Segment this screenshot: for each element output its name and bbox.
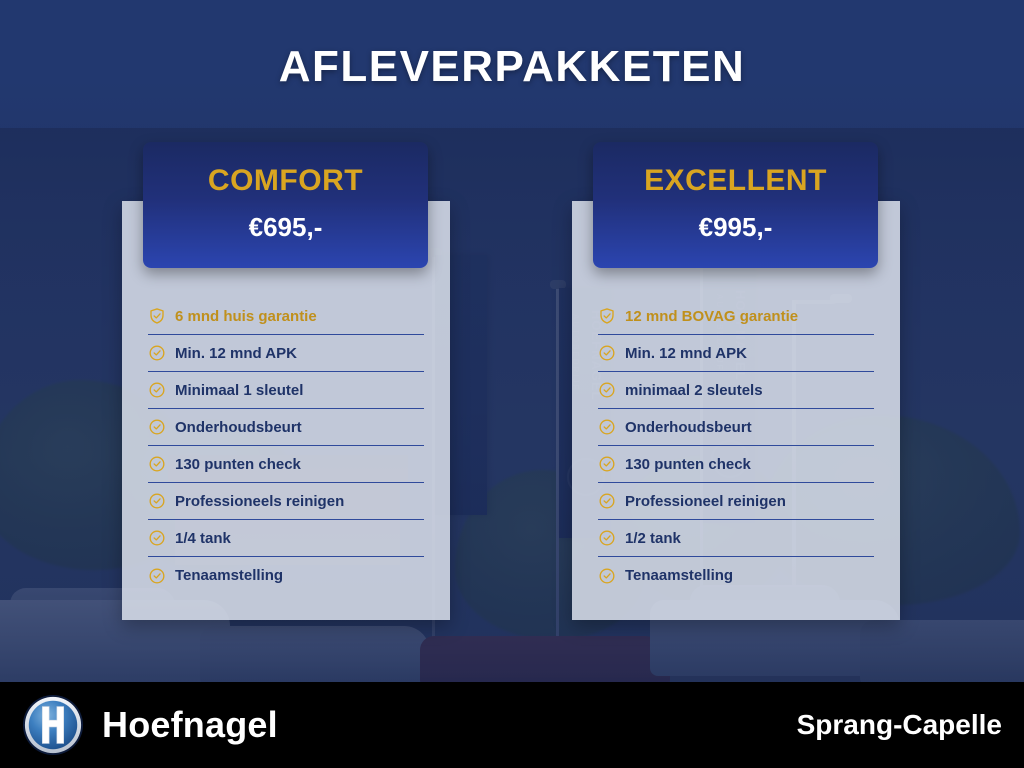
package-feature-item: minimaal 2 sleutels [598, 372, 874, 409]
package-feature-label: 1/4 tank [175, 530, 231, 547]
shield-check-icon [598, 307, 616, 325]
circle-check-icon [148, 418, 166, 436]
package-feature-label: Professioneel reinigen [625, 493, 786, 510]
package-feature-label: 130 punten check [175, 456, 301, 473]
package-name: EXCELLENT [593, 164, 878, 198]
slide-root: HOEFNAGEL AUTOBEDRIJF HOEFNAGEL AUTOBEDR… [0, 0, 1024, 768]
package-card-excellent: EXCELLENT €995,- 12 mnd BOVAG garantieMi… [572, 201, 900, 620]
circle-check-icon [598, 344, 616, 362]
package-feature-item: Min. 12 mnd APK [148, 335, 424, 372]
footer-brand: Hoefnagel [22, 694, 278, 756]
package-feature-item: Professioneel reinigen [598, 483, 874, 520]
package-feature-label: 130 punten check [625, 456, 751, 473]
package-feature-label: Professioneels reinigen [175, 493, 344, 510]
package-name: COMFORT [143, 164, 428, 198]
footer-bar: Hoefnagel Sprang-Capelle [0, 682, 1024, 768]
package-feature-label: Tenaamstelling [625, 567, 733, 584]
hoefnagel-h-badge-logo [22, 694, 84, 756]
page-title: AFLEVERPAKKETEN [0, 42, 1024, 92]
package-feature-list: 6 mnd huis garantieMin. 12 mnd APKMinima… [148, 298, 424, 594]
shield-check-icon [148, 307, 166, 325]
circle-check-icon [598, 492, 616, 510]
package-feature-label: 1/2 tank [625, 530, 681, 547]
package-feature-item: Tenaamstelling [598, 557, 874, 594]
package-feature-label: 12 mnd BOVAG garantie [625, 308, 798, 325]
package-feature-item: Minimaal 1 sleutel [148, 372, 424, 409]
package-feature-item: Onderhoudsbeurt [598, 409, 874, 446]
circle-check-icon [148, 455, 166, 473]
package-price: €695,- [143, 212, 428, 243]
circle-check-icon [598, 455, 616, 473]
package-feature-label: Min. 12 mnd APK [625, 345, 747, 362]
package-feature-label: Min. 12 mnd APK [175, 345, 297, 362]
package-feature-item: 12 mnd BOVAG garantie [598, 298, 874, 335]
package-card-comfort: COMFORT €695,- 6 mnd huis garantieMin. 1… [122, 201, 450, 620]
footer-location: Sprang-Capelle [797, 709, 1002, 741]
circle-check-icon [598, 418, 616, 436]
footer-brand-name: Hoefnagel [102, 704, 278, 746]
package-feature-item: 1/2 tank [598, 520, 874, 557]
package-header-banner: COMFORT €695,- [143, 142, 428, 268]
package-feature-label: 6 mnd huis garantie [175, 308, 317, 325]
package-feature-list: 12 mnd BOVAG garantieMin. 12 mnd APKmini… [598, 298, 874, 594]
circle-check-icon [148, 381, 166, 399]
circle-check-icon [148, 344, 166, 362]
circle-check-icon [148, 492, 166, 510]
package-feature-label: Minimaal 1 sleutel [175, 382, 303, 399]
package-feature-label: Onderhoudsbeurt [625, 419, 752, 436]
package-feature-item: Min. 12 mnd APK [598, 335, 874, 372]
package-feature-item: 1/4 tank [148, 520, 424, 557]
package-feature-item: Onderhoudsbeurt [148, 409, 424, 446]
package-feature-label: Tenaamstelling [175, 567, 283, 584]
circle-check-icon [148, 529, 166, 547]
circle-check-icon [148, 567, 166, 585]
circle-check-icon [598, 529, 616, 547]
package-feature-item: Professioneels reinigen [148, 483, 424, 520]
package-feature-item: 130 punten check [148, 446, 424, 483]
circle-check-icon [598, 567, 616, 585]
package-feature-label: Onderhoudsbeurt [175, 419, 302, 436]
package-feature-item: Tenaamstelling [148, 557, 424, 594]
package-feature-item: 130 punten check [598, 446, 874, 483]
circle-check-icon [598, 381, 616, 399]
package-feature-item: 6 mnd huis garantie [148, 298, 424, 335]
package-header-banner: EXCELLENT €995,- [593, 142, 878, 268]
package-feature-label: minimaal 2 sleutels [625, 382, 763, 399]
package-price: €995,- [593, 212, 878, 243]
